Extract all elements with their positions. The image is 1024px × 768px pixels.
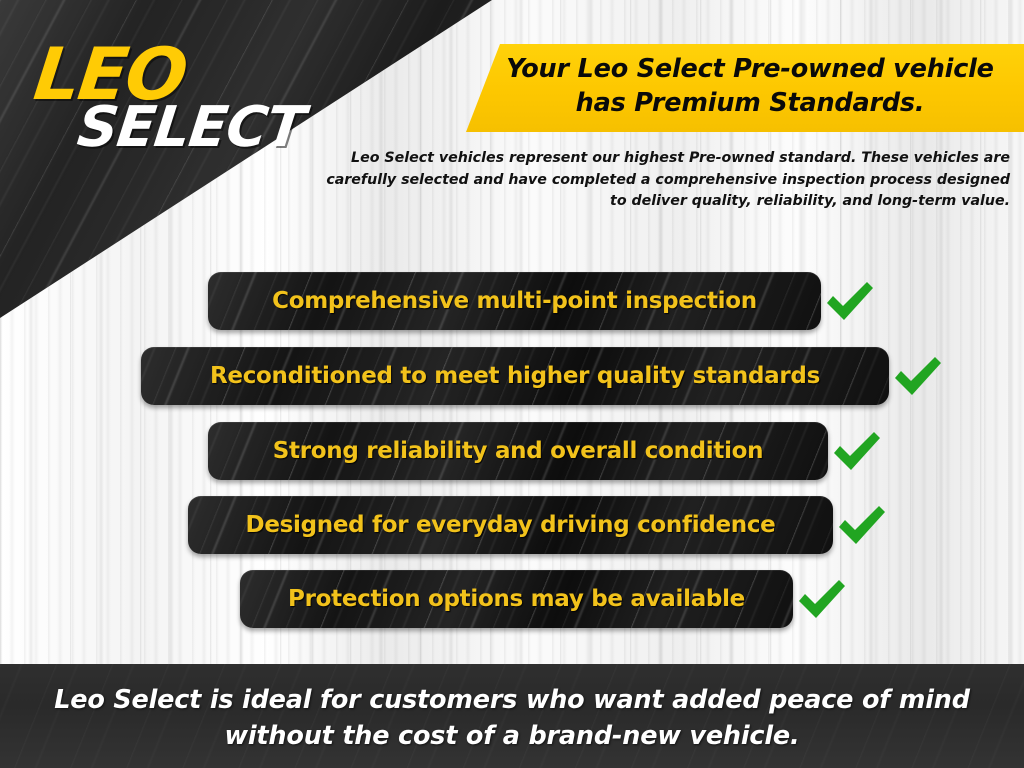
leo-select-promo-graphic: LEO SELECT Your Leo Select Pre-owned veh…: [0, 0, 1024, 768]
headline-text: Your Leo Select Pre-owned vehicle has Pr…: [478, 52, 1022, 121]
feature-row-3: Strong reliability and overall condition: [208, 422, 884, 480]
feature-label-3: Strong reliability and overall condition: [273, 438, 764, 464]
intro-paragraph: Leo Select vehicles represent our highes…: [310, 148, 1010, 213]
feature-row-5: Protection options may be available: [240, 570, 849, 628]
green-check-icon: [889, 350, 945, 402]
logo-select-wordmark: SELECT: [75, 100, 308, 156]
feature-label-2: Reconditioned to meet higher quality sta…: [210, 363, 820, 389]
feature-pill-2: Reconditioned to meet higher quality sta…: [141, 347, 889, 405]
feature-pill-5: Protection options may be available: [240, 570, 793, 628]
brand-logo: LEO SELECT: [30, 38, 330, 173]
green-check-icon: [821, 275, 877, 327]
green-check-icon: [833, 499, 889, 551]
feature-label-5: Protection options may be available: [288, 586, 745, 612]
feature-pill-1: Comprehensive multi-point inspection: [208, 272, 821, 330]
feature-pill-4: Designed for everyday driving confidence: [188, 496, 833, 554]
feature-pill-3: Strong reliability and overall condition: [208, 422, 828, 480]
feature-row-2: Reconditioned to meet higher quality sta…: [141, 347, 945, 405]
green-check-icon: [828, 425, 884, 477]
feature-label-4: Designed for everyday driving confidence: [246, 512, 776, 538]
feature-row-1: Comprehensive multi-point inspection: [208, 272, 877, 330]
feature-label-1: Comprehensive multi-point inspection: [272, 288, 757, 314]
feature-row-4: Designed for everyday driving confidence: [188, 496, 889, 554]
footer-tagline: Leo Select is ideal for customers who wa…: [42, 682, 982, 754]
green-check-icon: [793, 573, 849, 625]
